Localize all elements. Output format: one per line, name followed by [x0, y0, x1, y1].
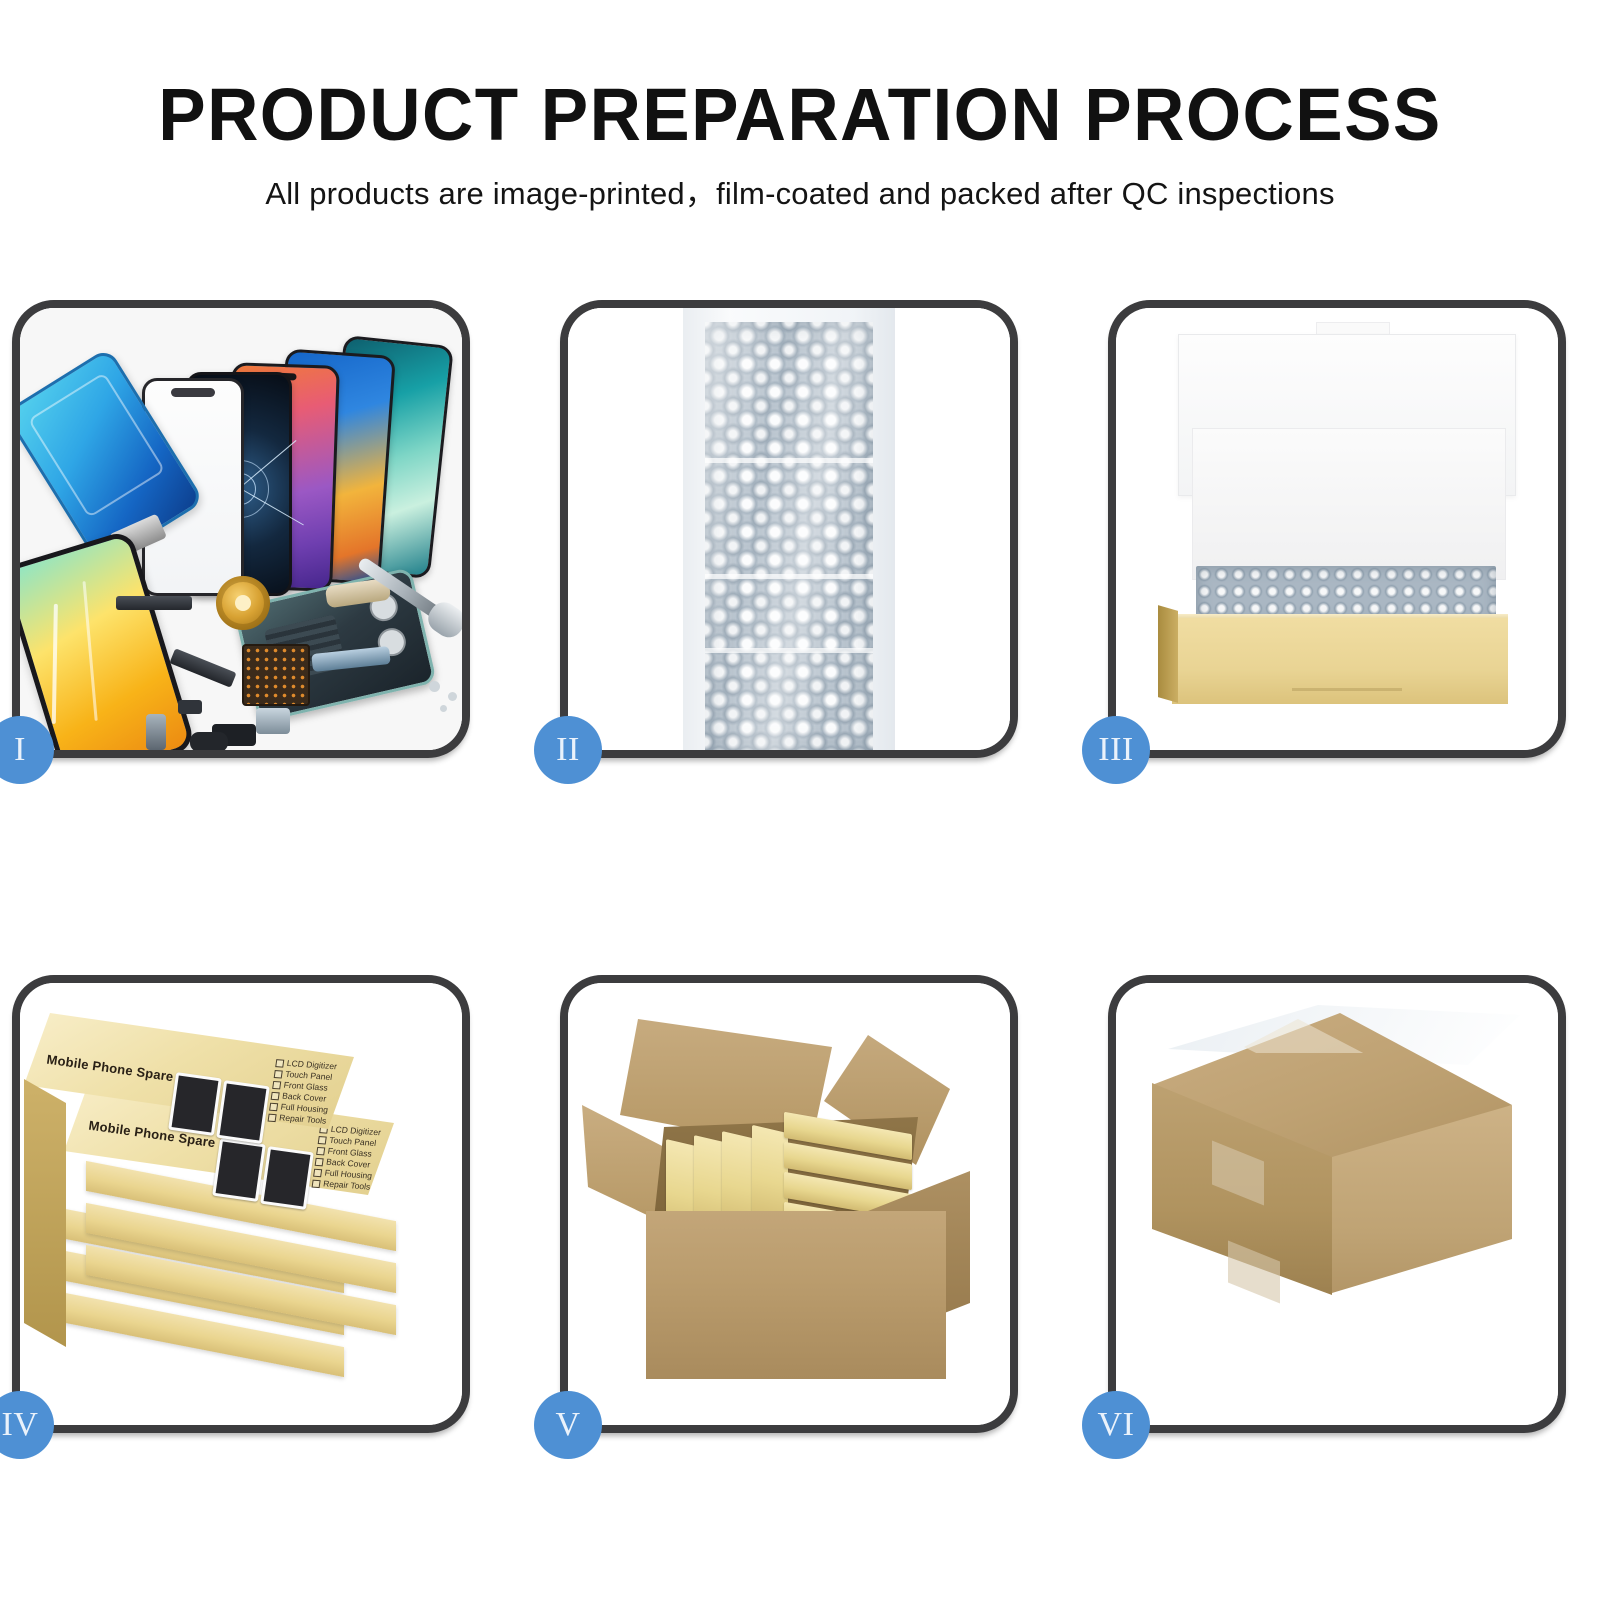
step-2-image	[568, 308, 1010, 750]
wrap-seam	[705, 574, 873, 579]
wrap-seam	[705, 458, 873, 463]
box-window-phone-image	[216, 1080, 270, 1144]
screen-highlight	[83, 581, 98, 721]
sim-tray-part	[146, 714, 166, 750]
process-step-3: III	[1108, 300, 1566, 758]
gold-box-side	[1158, 605, 1178, 703]
box-checklist-lower: LCD Digitizer Touch Panel Front Glass Ba…	[311, 1123, 381, 1193]
ic-chip-grid	[242, 644, 310, 706]
checkbox-icon	[271, 1092, 280, 1100]
checkbox-icon	[268, 1113, 277, 1121]
phone-parts-collage-image	[20, 308, 462, 750]
step-3-image	[1116, 308, 1558, 750]
checkbox-icon	[272, 1081, 281, 1089]
flex-cable-part	[169, 648, 236, 688]
checkbox-icon	[275, 1059, 284, 1067]
step-1-image	[20, 308, 462, 750]
screen-highlight	[52, 604, 58, 724]
bubble-wrapped-phone	[705, 322, 873, 750]
bubble-wrap-scene	[568, 308, 1010, 750]
step-badge-6: VI	[1082, 1391, 1150, 1459]
box-white-liner	[1192, 428, 1506, 580]
box-checklist-upper: LCD Digitizer Touch Panel Front Glass Ba…	[267, 1057, 337, 1127]
step-badge-2: II	[534, 716, 602, 784]
box-window-phone-image	[168, 1072, 222, 1136]
wireless-charging-coil	[216, 576, 270, 630]
loudspeaker-part	[190, 732, 228, 750]
checkbox-icon	[318, 1136, 327, 1144]
charging-port-part	[256, 708, 290, 734]
checkbox-icon	[313, 1168, 322, 1176]
stack-left-side	[24, 1079, 66, 1347]
earpiece-speaker-part	[116, 596, 192, 610]
box-window-phone-image	[212, 1138, 266, 1202]
checkbox-icon	[316, 1147, 325, 1155]
box-window-phone-image	[260, 1146, 314, 1210]
gold-box-front	[1172, 618, 1508, 704]
checkbox-icon	[274, 1070, 283, 1078]
process-step-4: Mobile Phone Spare Parts LCD Digitizer T…	[12, 975, 470, 1433]
process-step-grid: I II III	[0, 0, 1600, 1600]
glass-notch	[171, 388, 215, 397]
step-badge-3: III	[1082, 716, 1150, 784]
small-connector-part	[178, 700, 202, 714]
process-step-2: II	[560, 300, 1018, 758]
process-step-5: V	[560, 975, 1018, 1433]
carton-front-wall	[646, 1211, 946, 1379]
retail-box-stack: Mobile Phone Spare Parts LCD Digitizer T…	[20, 983, 462, 1425]
checkbox-icon	[312, 1179, 321, 1187]
carton-left-flap	[582, 1105, 668, 1225]
checkbox-icon	[269, 1102, 278, 1110]
step-5-image	[568, 983, 1010, 1425]
process-step-6: VI	[1108, 975, 1566, 1433]
step-badge-5: V	[534, 1391, 602, 1459]
process-step-1: I	[12, 300, 470, 758]
screws	[429, 681, 440, 692]
box-crease	[1292, 688, 1402, 691]
wrap-seam	[705, 648, 873, 653]
step-6-image	[1116, 983, 1558, 1425]
checkbox-icon	[315, 1158, 324, 1166]
step-4-image: Mobile Phone Spare Parts LCD Digitizer T…	[20, 983, 462, 1425]
